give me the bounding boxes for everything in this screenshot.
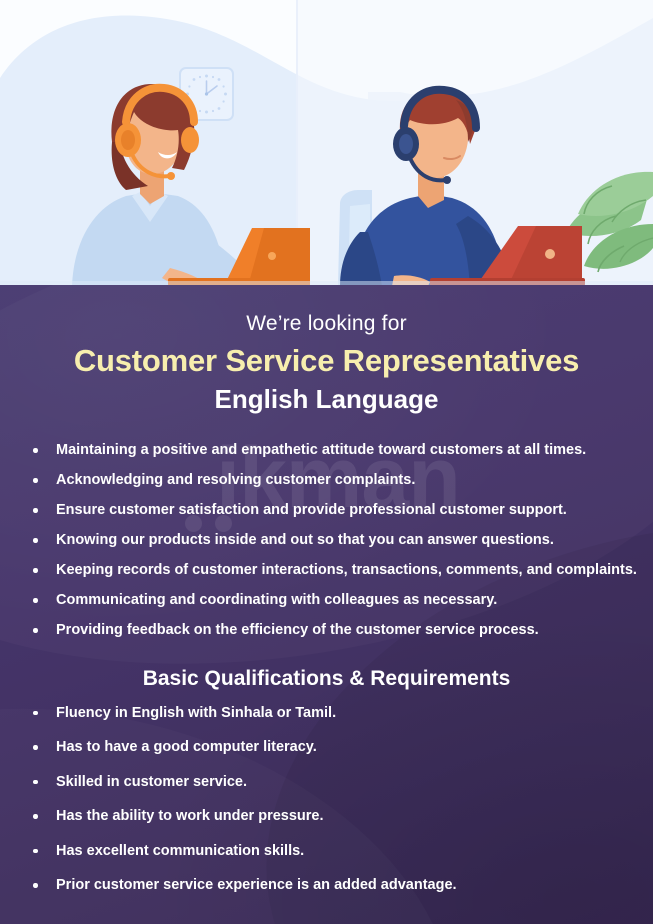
eyebrow-text: We’re looking for (0, 312, 653, 336)
list-item: Has to have a good computer literacy. (0, 736, 653, 760)
list-item: Has the ability to work under pressure. (0, 805, 653, 829)
page-subtitle: English Language (0, 384, 653, 415)
hero-illustration (0, 0, 653, 286)
list-item: Skilled in customer service. (0, 771, 653, 795)
job-advertisement-poster: ikman We’re looking for Customer Service… (0, 0, 653, 924)
list-item: Has excellent communication skills. (0, 840, 653, 864)
list-item: Acknowledging and resolving customer com… (0, 469, 653, 493)
content-panel: ikman We’re looking for Customer Service… (0, 285, 653, 924)
duties-list: Maintaining a positive and empathetic at… (0, 439, 653, 643)
poster-content: We’re looking for Customer Service Repre… (0, 312, 653, 924)
list-item: Keeping records of customer interactions… (0, 559, 653, 583)
qualifications-heading: Basic Qualifications & Requirements (0, 667, 653, 691)
list-item: Maintaining a positive and empathetic at… (0, 439, 653, 463)
list-item: Providing feedback on the efficiency of … (0, 619, 653, 643)
list-item: Ensure customer satisfaction and provide… (0, 499, 653, 523)
list-item: Communicating and coordinating with coll… (0, 589, 653, 613)
illustration-artwork (0, 0, 653, 286)
list-item: Knowing our products inside and out so t… (0, 529, 653, 553)
list-item: Prior customer service experience is an … (0, 874, 653, 898)
list-item: Fluency in English with Sinhala or Tamil… (0, 702, 653, 726)
page-title: Customer Service Representatives (0, 343, 653, 379)
qualifications-list: Fluency in English with Sinhala or Tamil… (0, 702, 653, 898)
